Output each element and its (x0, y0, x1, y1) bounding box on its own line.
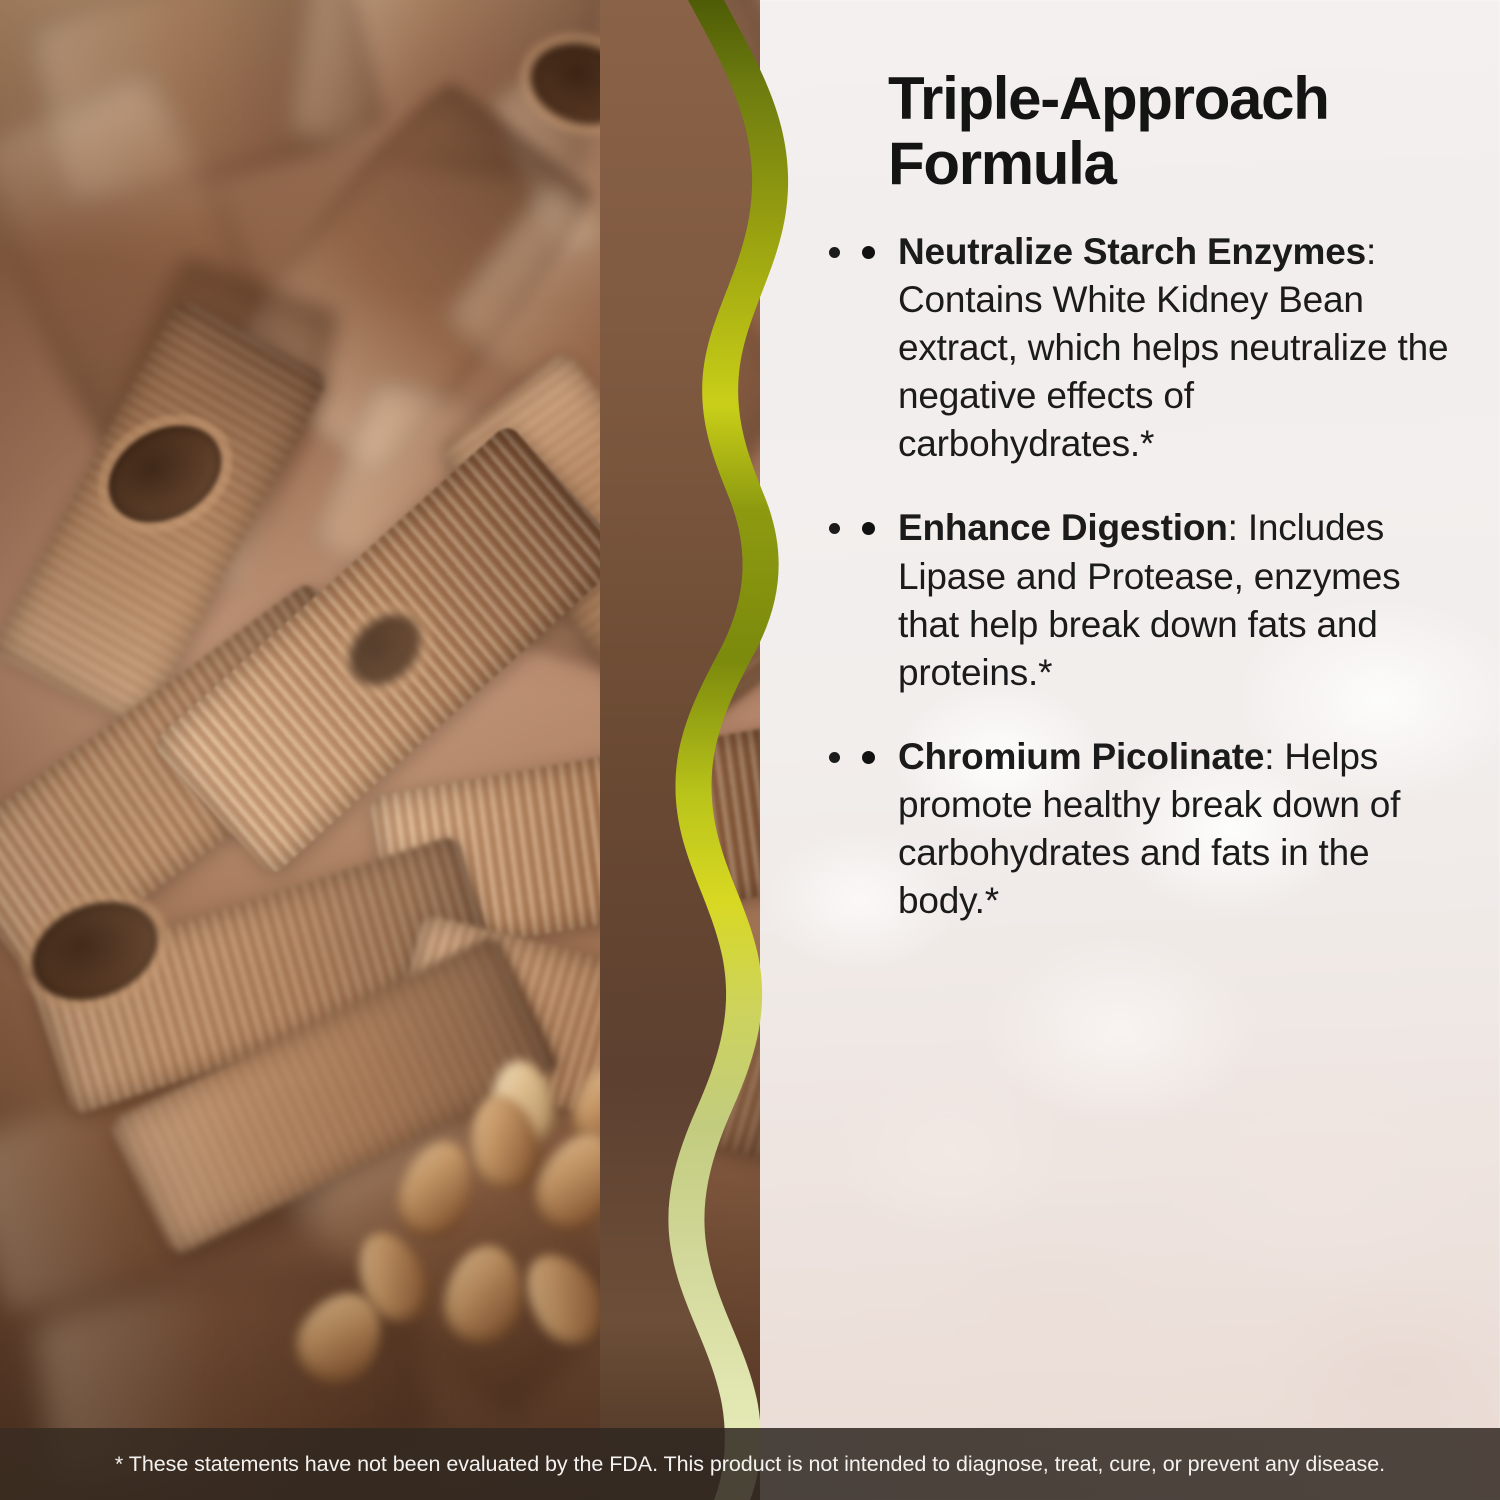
photo-edge-fill (600, 0, 752, 1500)
benefit-list: Neutralize Starch Enzymes: Contains Whit… (858, 228, 1458, 925)
benefit-lead: Chromium Picolinate (898, 736, 1264, 777)
benefit-lead: Neutralize Starch Enzymes (898, 231, 1366, 272)
bullet-dot-icon (862, 246, 875, 259)
list-item: Chromium Picolinate: Helps promote healt… (858, 733, 1458, 925)
disclaimer-bar: * These statements have not been evaluat… (0, 1428, 1500, 1500)
wavy-divider (600, 0, 900, 1500)
promo-image-canvas: Triple-Approach Formula Neutralize Starc… (0, 0, 1500, 1500)
bullet-dot-icon (862, 522, 875, 535)
benefit-lead: Enhance Digestion (898, 507, 1228, 548)
formula-content: Triple-Approach Formula Neutralize Starc… (858, 0, 1458, 1430)
list-item: Enhance Digestion: Includes Lipase and P… (858, 504, 1458, 696)
bullet-dot-icon (862, 751, 875, 764)
fda-disclaimer-text: * These statements have not been evaluat… (115, 1452, 1385, 1477)
list-item: Neutralize Starch Enzymes: Contains Whit… (858, 228, 1458, 468)
page-title: Triple-Approach Formula (888, 66, 1458, 197)
